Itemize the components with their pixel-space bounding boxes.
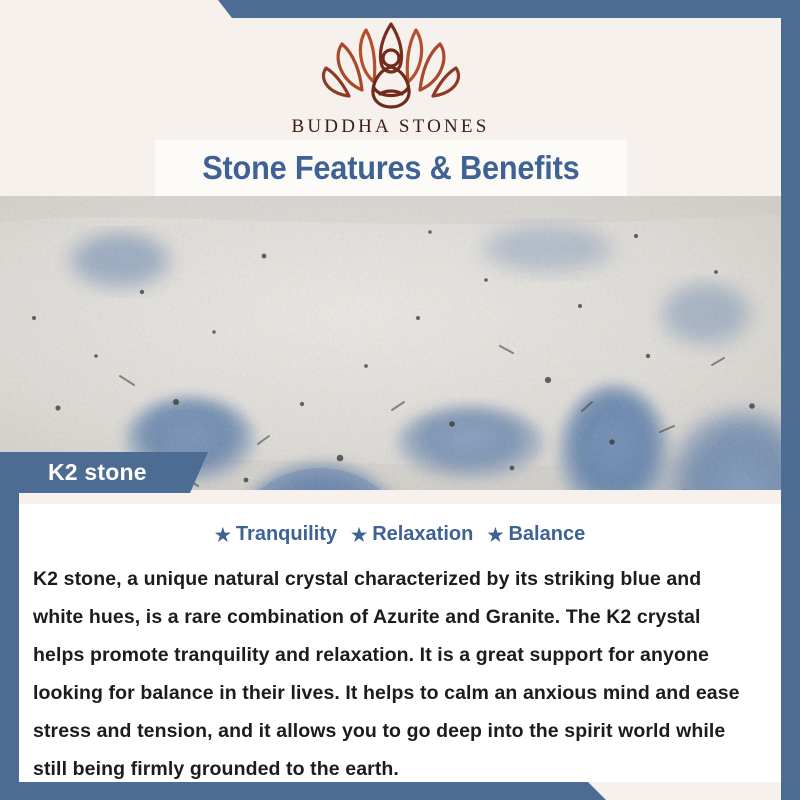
- page-title: Stone Features & Benefits: [202, 149, 579, 187]
- keyword-label: Balance: [508, 523, 585, 546]
- star-icon: ★: [487, 526, 503, 544]
- frame-top-bar: [218, 0, 800, 18]
- frame-left-bar: [0, 489, 19, 782]
- keyword-tranquility: ★ Tranquility: [215, 523, 337, 546]
- star-icon: ★: [351, 526, 367, 544]
- keyword-relaxation: ★ Relaxation: [351, 523, 473, 546]
- star-icon: ★: [215, 526, 231, 544]
- lotus-meditation-icon: [316, 20, 466, 112]
- brand-logo: BUDDHA STONES: [0, 20, 781, 138]
- stone-description: K2 stone, a unique natural crystal chara…: [33, 560, 757, 788]
- poster-root: BUDDHA STONES: [0, 0, 800, 800]
- content-panel: ★ Tranquility ★ Relaxation ★ Balance K2 …: [19, 490, 781, 782]
- frame-right-bar: [781, 0, 800, 800]
- benefit-keywords: ★ Tranquility ★ Relaxation ★ Balance: [19, 523, 781, 546]
- stone-name-badge: K2 stone: [0, 452, 208, 493]
- k2-stone-photo: [0, 196, 781, 490]
- keyword-balance: ★ Balance: [487, 523, 585, 546]
- keyword-label: Relaxation: [372, 523, 473, 546]
- keyword-label: Tranquility: [236, 523, 337, 546]
- brand-name: BUDDHA STONES: [291, 116, 489, 138]
- stone-name-label: K2 stone: [48, 459, 147, 486]
- frame-bottom-bar: [0, 782, 606, 800]
- title-banner: Stone Features & Benefits: [155, 140, 627, 196]
